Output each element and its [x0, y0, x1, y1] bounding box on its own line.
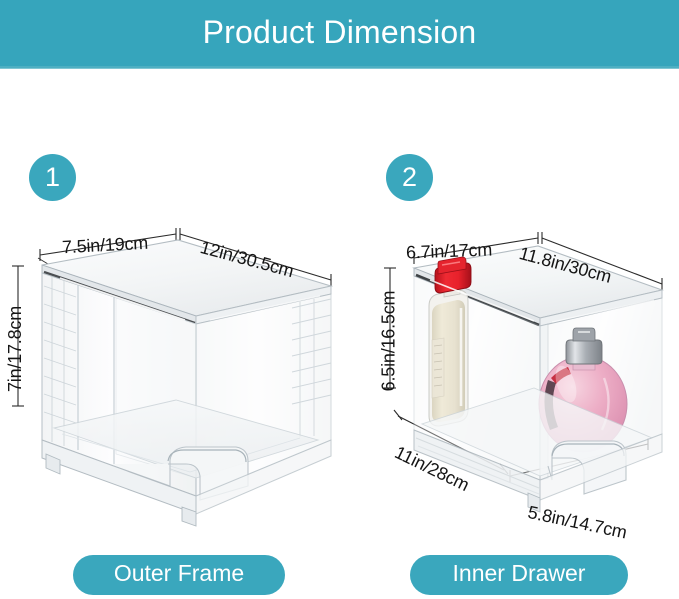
clear-storage-box-icon: [0, 228, 345, 540]
dimension-label-outer-height: 7in/17.8cm: [6, 306, 24, 392]
dimension-label-inner-height: 6.5in/16.5cm: [379, 291, 397, 392]
header-banner: Product Dimension: [0, 0, 679, 68]
header-underline: [0, 66, 679, 69]
product-badge-2: 2: [386, 154, 433, 201]
caption-pill-outer-frame: Outer Frame: [73, 555, 285, 595]
clear-drawer-bin-icon: [352, 228, 679, 540]
page-title: Product Dimension: [203, 16, 477, 52]
dimension-label-inner-width: 6.7in/17cm: [406, 241, 493, 262]
product-image-outer-frame: [0, 228, 345, 540]
product-image-inner-drawer: [352, 228, 679, 540]
dimension-label-outer-width: 7.5in/19cm: [62, 234, 149, 256]
caption-pill-inner-drawer: Inner Drawer: [410, 555, 628, 595]
storage-box-body: [42, 240, 331, 526]
product-badge-1: 1: [29, 154, 76, 201]
